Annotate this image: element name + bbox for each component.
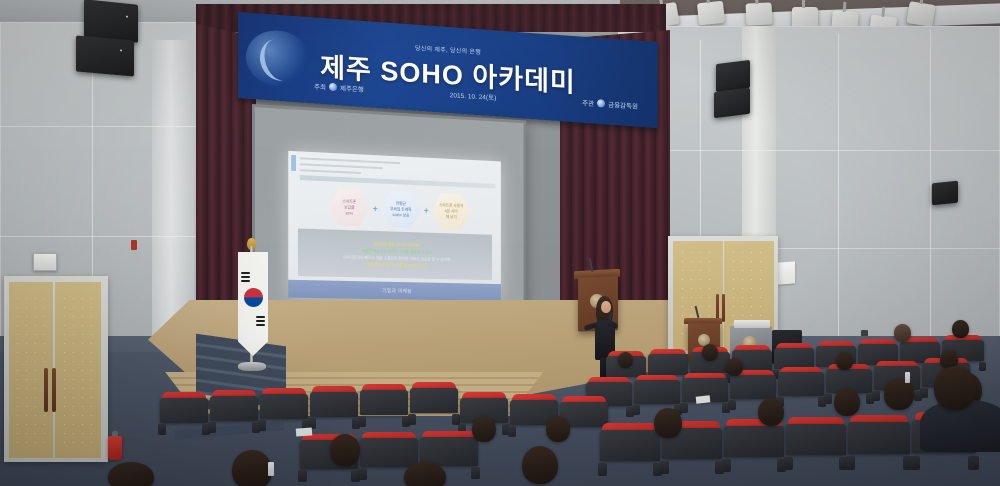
seat [160, 398, 208, 438]
slide-body-line: 효과적이고 빠른 효과를 볼 수 있습니다. [367, 261, 428, 268]
wall-speaker-icon [932, 181, 958, 206]
door-panel-left-a [13, 294, 47, 446]
seat [724, 426, 784, 476]
door-panel-left-b [60, 294, 96, 446]
banner-date: 2015. 10. 24(토) [450, 89, 496, 102]
slide-footer: 기업과 마케팅 [288, 280, 501, 301]
hex-line-1: 스마트폰 [342, 199, 356, 204]
slide-header-line [300, 169, 361, 174]
audience-head [330, 434, 360, 466]
trigram-icon [241, 276, 250, 278]
seat [410, 388, 458, 428]
slide-accent-bar [291, 155, 296, 171]
hex-line-1: 스마트폰 사용자 [439, 203, 463, 209]
audience-head [472, 416, 496, 442]
slide-body-text: 모바일을 통한 온라인 마케팅은 저렴한 비용으로 타겟인 고객을 찾아낼 수 … [298, 228, 492, 280]
slide-footer-logo: 기업과 마케팅 [382, 287, 412, 294]
plus-icon: + [424, 206, 429, 216]
banner-sponsor-name: 금융감독원 [608, 99, 638, 111]
trigram-icon [241, 280, 250, 282]
paper-handout [696, 395, 711, 403]
door-handle-right-b[interactable] [722, 294, 725, 322]
seat [210, 396, 258, 436]
hex-line-3: 108% 상승 [392, 212, 409, 217]
audience-head [702, 344, 718, 361]
audience-head [758, 398, 784, 426]
ceiling-speaker-icon [76, 35, 134, 76]
banner-sponsor-label: 주관 [582, 97, 594, 108]
presentation-slide: 스마트폰 보급률 82% + 연평균 모바일 트래픽 108% 상승 + [288, 151, 501, 301]
wall-seam [0, 126, 196, 127]
water-bottle-icon [905, 372, 910, 383]
wall-seam [930, 30, 931, 350]
wall-seam [660, 150, 1000, 151]
audience-head [952, 320, 969, 338]
seat [848, 422, 910, 474]
av-mixer-icon [734, 320, 770, 328]
auditorium-photo: 당신의 제주, 당신의 은행 제주 SOHO 아카데미 주최 제주은행 2015… [0, 0, 1000, 486]
taeguk-symbol-icon [244, 288, 263, 307]
trigram-icon [241, 272, 250, 274]
audience-head [894, 324, 911, 342]
hex-line-1: 연평균 [396, 201, 406, 206]
audience-head [726, 358, 743, 376]
audience-head [934, 366, 976, 410]
audience-head [836, 352, 853, 370]
hex-line-3: 82% [346, 210, 354, 215]
banner-host-label: 주최 [314, 81, 326, 92]
seat [310, 392, 358, 432]
trigram-icon [256, 324, 265, 326]
screen-surface: 스마트폰 보급률 82% + 연평균 모바일 트래픽 108% 상승 + [255, 107, 524, 331]
trigram-icon [256, 320, 265, 322]
audience-head [404, 462, 446, 486]
slide-header-line [300, 163, 383, 169]
audience-head [618, 352, 633, 368]
audience-head [654, 408, 682, 438]
hex-line-2: 보급률 [344, 205, 354, 210]
audience-head [232, 450, 272, 486]
pillar-left [152, 40, 194, 340]
seat [778, 372, 824, 410]
audience-head [546, 416, 570, 442]
stage-light-icon [697, 1, 725, 26]
slide-hexagon: 스마트폰 보급률 82% [328, 187, 370, 228]
audience-head [522, 446, 558, 484]
wall-speaker-icon [716, 60, 750, 92]
water-bottle-icon [268, 462, 274, 476]
banner-host-name: 제주은행 [340, 82, 364, 93]
audience-head [108, 462, 154, 486]
audience-head [834, 388, 860, 416]
seat [360, 390, 408, 430]
fire-alarm-icon [131, 240, 137, 250]
paper-handout [296, 427, 313, 436]
hex-line-2: 5분 사이 [445, 208, 458, 213]
emergency-exit-light-icon [33, 253, 57, 271]
stage-light-icon [906, 1, 935, 27]
hex-line-3: 해 보기 [446, 214, 457, 219]
wall-seam [838, 34, 839, 344]
plus-icon: + [373, 204, 378, 214]
door-handle-left-b[interactable] [52, 368, 56, 412]
trigram-icon [256, 316, 265, 318]
sponsor-logo-icon [597, 99, 605, 107]
wall-speaker-icon [714, 88, 750, 118]
wall-seam [0, 236, 196, 237]
seat [600, 430, 660, 480]
notice-sheet [778, 261, 795, 284]
host-logo-icon [329, 83, 337, 91]
seat [786, 424, 846, 474]
slide-hexagon-row: 스마트폰 보급률 82% + 연평균 모바일 트래픽 108% 상승 + [310, 185, 489, 232]
slide-hexagon: 연평균 모바일 트래픽 108% 상승 [381, 189, 422, 229]
projection-screen: 스마트폰 보급률 82% + 연평균 모바일 트래픽 108% 상승 + [252, 104, 526, 334]
fire-extinguisher-icon [108, 436, 122, 460]
flag-stand [238, 362, 266, 371]
door-handle-left-a[interactable] [44, 368, 48, 412]
stage-light-icon [745, 2, 772, 25]
slide-hexagon: 스마트폰 사용자 5분 사이 해 보기 [431, 192, 471, 232]
